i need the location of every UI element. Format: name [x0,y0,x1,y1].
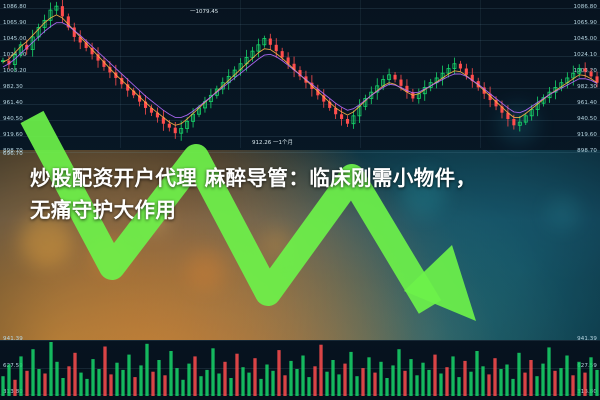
chart-background-image: 1086.80 1065.90 1045.00 1024.10 1003.20 … [0,0,600,400]
headline-line-1: 炒股配资开户代理 麻醉导管：临床刚需小物件， [30,166,476,190]
headline-text: 炒股配资开户代理 麻醉导管：临床刚需小物件， 无痛守护大作用 [30,163,578,227]
headline-line-2: 无痛守护大作用 [30,195,578,227]
